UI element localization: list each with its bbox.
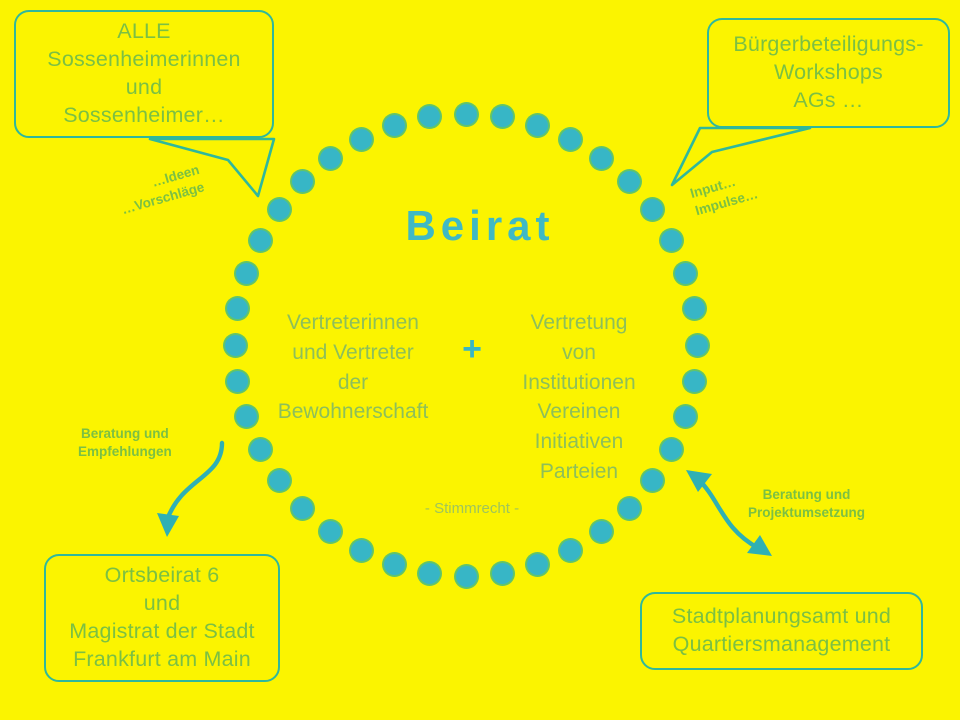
ring-dot (492, 106, 513, 127)
voting-rights-footnote: - Stimmrecht - (350, 500, 594, 517)
ring-dot (560, 129, 581, 150)
ring-dot (225, 335, 246, 356)
ring-dot (619, 498, 640, 519)
ring-dot (227, 371, 248, 392)
box-stadtplanung[interactable]: Stadtplanungsamt undQuartiersmanagement (640, 592, 923, 670)
plus-icon: + (450, 330, 494, 369)
box-ortsbeirat-text: Ortsbeirat 6undMagistrat der StadtFrankf… (46, 562, 278, 674)
ring-dot (419, 106, 440, 127)
ring-dot (456, 104, 477, 125)
ring-dot (419, 563, 440, 584)
ring-dot (684, 371, 705, 392)
ring-dot (675, 263, 696, 284)
ring-dot (351, 540, 372, 561)
ring-dot (351, 129, 372, 150)
speech-bubble-workshops[interactable]: Bürgerbeteiligungs-WorkshopsAGs … (707, 18, 950, 128)
ring-dot (687, 335, 708, 356)
center-column-representatives: Vertreterinnenund VertreterderBewohnersc… (268, 308, 438, 427)
ring-dot (492, 563, 513, 584)
ring-dot (684, 298, 705, 319)
diagram-canvas: ALLESossenheimerinnenundSossenheimer… Bü… (0, 0, 960, 720)
ring-dot (292, 498, 313, 519)
ring-dot (527, 115, 548, 136)
ring-dot (661, 439, 682, 460)
ring-dot (292, 171, 313, 192)
box-stadtplanung-text: Stadtplanungsamt undQuartiersmanagement (642, 603, 921, 659)
ring-dot (456, 566, 477, 587)
speech-bubble-citizens-text: ALLESossenheimerinnenundSossenheimer… (16, 18, 272, 130)
ring-dot (320, 148, 341, 169)
ring-dot (675, 406, 696, 427)
center-column-institutions: VertretungvonInstitutionenVereinenInitia… (496, 308, 662, 487)
ring-dot (384, 115, 405, 136)
ring-dot (250, 439, 271, 460)
ring-dot (384, 554, 405, 575)
ring-dot (236, 406, 257, 427)
box-ortsbeirat[interactable]: Ortsbeirat 6undMagistrat der StadtFrankf… (44, 554, 280, 682)
annotation-beratung-projektumsetzung: Beratung undProjektumsetzung (748, 486, 865, 522)
ring-dot (591, 521, 612, 542)
annotation-beratung-empfehlungen: Beratung undEmpfehlungen (78, 425, 172, 461)
ring-dot (619, 171, 640, 192)
ring-dot (227, 298, 248, 319)
ring-dot (527, 554, 548, 575)
ring-dot (269, 470, 290, 491)
ring-dot (320, 521, 341, 542)
ring-dot (591, 148, 612, 169)
speech-bubble-citizens[interactable]: ALLESossenheimerinnenundSossenheimer… (14, 10, 274, 138)
ring-dot (236, 263, 257, 284)
ring-dot (560, 540, 581, 561)
speech-bubble-workshops-text: Bürgerbeteiligungs-WorkshopsAGs … (709, 31, 948, 115)
